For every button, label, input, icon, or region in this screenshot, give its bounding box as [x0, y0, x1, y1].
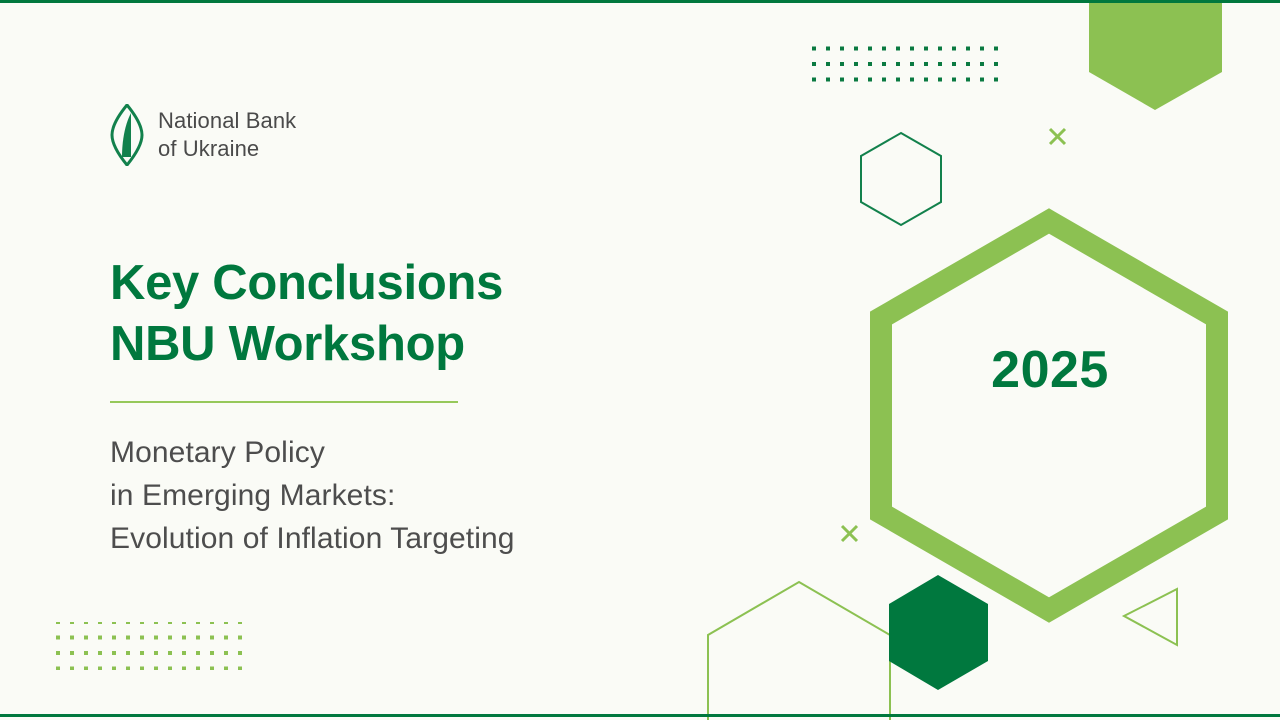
page-title: Key Conclusions NBU Workshop [110, 253, 750, 376]
year-badge-value: 2025 [991, 340, 1109, 400]
headline-block: Key Conclusions NBU Workshop Monetary Po… [110, 253, 750, 560]
top-border-rule [0, 0, 1280, 3]
nbu-logo: National Bank of Ukraine [110, 104, 296, 166]
page-subtitle: Monetary Policy in Emerging Markets: Evo… [110, 431, 750, 561]
nbu-hexagon-leaf-mark [110, 104, 144, 166]
outline-hexagon-small-top [861, 133, 941, 225]
cross-mark-middle [842, 526, 857, 541]
bottom-border-rule [0, 714, 1280, 717]
filled-hexagon-top-right [1089, 0, 1222, 110]
year-badge: 2025 [880, 220, 1220, 520]
title-slide: National Bank of Ukraine Key Conclusions… [0, 0, 1280, 720]
outline-hexagon-bottom [708, 582, 890, 720]
filled-hexagon-bottom [889, 575, 988, 690]
dot-grid-top-right [808, 42, 1005, 90]
title-divider [110, 401, 458, 403]
nbu-logo-wordmark: National Bank of Ukraine [158, 107, 296, 163]
cross-mark-top-right [1050, 129, 1065, 144]
outline-triangle-bottom-right [1124, 589, 1177, 645]
dot-grid-bottom-left [50, 622, 247, 670]
